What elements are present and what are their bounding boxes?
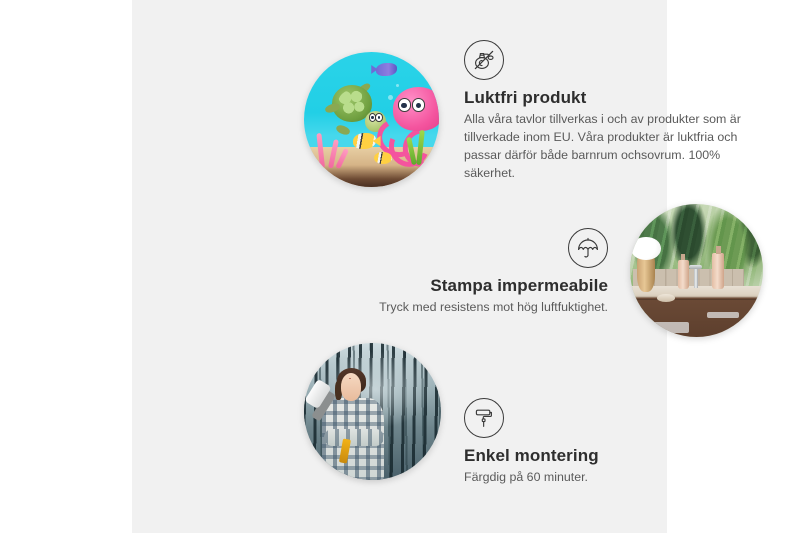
feature-title: Enkel montering [464, 446, 704, 466]
smile [349, 378, 351, 379]
woman-illustration [318, 373, 395, 480]
drawer-handle [643, 322, 688, 333]
content-panel: Luktfri produkt Alla våra tavlor tillver… [132, 0, 667, 533]
white-flowers [631, 237, 660, 260]
feature-title: Luktfri produkt [464, 88, 758, 108]
product-image-woman-with-paint-roller-forest[interactable] [304, 343, 441, 480]
feature-description: Färgdig på 60 minuter. [464, 469, 704, 487]
turtle-illustration [327, 82, 386, 133]
feature-title: Stampa impermeabile [346, 276, 608, 296]
feature-description: Alla våra tavlor tillverkas i och av pro… [464, 111, 758, 183]
product-image-bathroom-tropical-wallpaper[interactable] [630, 204, 763, 337]
screenshot-stage: Luktfri produkt Alla våra tavlor tillver… [0, 0, 800, 533]
face [341, 373, 362, 401]
crossed-arms [324, 429, 384, 446]
octopus-head [393, 87, 439, 131]
faucet [694, 265, 698, 288]
product-image-underwater-kids-mural[interactable] [304, 52, 439, 187]
octopus-eye [412, 98, 425, 111]
feature-waterproof-print: Stampa impermeabile Tryck med resistens … [346, 228, 608, 317]
no-odor-spray-icon [464, 40, 504, 80]
seaweed-illustration [407, 130, 431, 165]
bathroom-bottle [712, 253, 724, 289]
feature-easy-mounting: Enkel montering Färgdig på 60 minuter. [464, 398, 704, 487]
coral-illustration [309, 130, 350, 168]
octopus-eye [398, 98, 411, 111]
umbrella-icon [568, 228, 608, 268]
feature-odor-free: Luktfri produkt Alla våra tavlor tillver… [464, 40, 758, 183]
fish-illustration [353, 133, 376, 149]
bathroom-bottle [678, 260, 689, 289]
paint-roller-icon [464, 398, 504, 438]
fish-illustration [374, 152, 392, 164]
drawer-handle [707, 312, 739, 319]
feature-description: Tryck med resistens mot hög luftfuktighe… [346, 299, 608, 317]
